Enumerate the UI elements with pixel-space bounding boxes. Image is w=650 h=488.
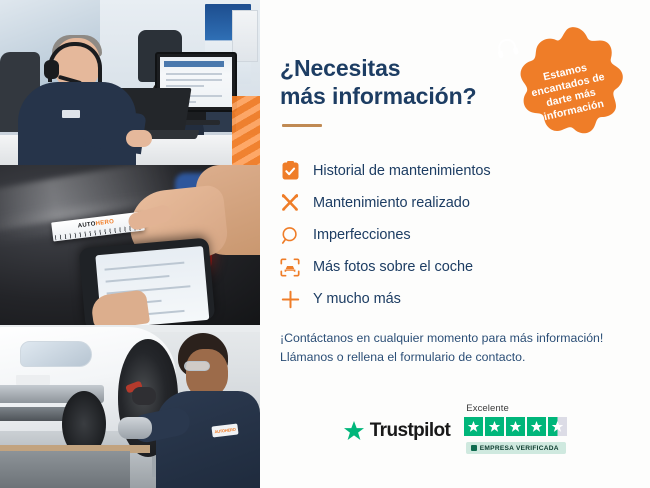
trustpilot-wordmark: Trustpilot bbox=[370, 420, 451, 442]
mechanic-person: AUTOHERO bbox=[156, 333, 260, 488]
clipboard-check-icon bbox=[280, 161, 300, 181]
trustpilot-star-icon bbox=[343, 421, 365, 442]
orange-stripe-decor bbox=[232, 96, 260, 165]
call-center-agents-photo bbox=[0, 0, 260, 165]
trustpilot-rating: Excelente bbox=[464, 403, 567, 454]
feature-item-mas: Y mucho más bbox=[280, 283, 624, 315]
contact-text: ¡Contáctanos en cualquier momento para m… bbox=[280, 329, 624, 367]
star-3 bbox=[506, 417, 525, 436]
feature-item-imperfecciones: Imperfecciones bbox=[280, 219, 624, 251]
verified-label: EMPRESA VERIFICADA bbox=[480, 445, 559, 452]
headline-line-2: más información? bbox=[280, 83, 477, 109]
photo-column: AUTOHERO bbox=[0, 0, 260, 488]
title-divider bbox=[282, 124, 322, 127]
feature-label: Y mucho más bbox=[313, 291, 401, 307]
plus-icon bbox=[280, 289, 300, 309]
agent-1 bbox=[18, 38, 136, 165]
star-rating bbox=[464, 417, 567, 436]
magnifier-icon bbox=[280, 225, 300, 245]
contact-line-2: Llámanos o rellena el formulario de cont… bbox=[280, 348, 624, 367]
ruler-brand-a: AUTO bbox=[77, 221, 96, 229]
star-4 bbox=[527, 417, 546, 436]
feature-label: Historial de mantenimientos bbox=[313, 163, 491, 179]
rating-label: Excelente bbox=[466, 403, 509, 414]
ruler-brand-b: HERO bbox=[95, 219, 114, 227]
headline-line-1: ¿Necesitas bbox=[280, 55, 400, 81]
feature-label: Imperfecciones bbox=[313, 227, 411, 243]
mechanic-wheel-inspection-photo: AUTOHERO bbox=[0, 325, 260, 488]
badge-text: Estamos encantados de darte más informac… bbox=[517, 56, 622, 127]
star-5-half bbox=[548, 417, 567, 436]
feature-item-mantenimiento: Mantenimiento realizado bbox=[280, 187, 624, 219]
feature-item-fotos: Más fotos sobre el coche bbox=[280, 251, 624, 283]
car-lift bbox=[0, 451, 130, 488]
info-badge: Estamos encantados de darte más informac… bbox=[507, 26, 631, 152]
trustpilot-logo: Trustpilot bbox=[343, 420, 451, 454]
verified-badge: EMPRESA VERIFICADA bbox=[466, 442, 566, 454]
page-title: ¿Necesitas más información? bbox=[280, 54, 510, 110]
contact-line-1: ¡Contáctanos en cualquier momento para m… bbox=[280, 329, 624, 348]
headset-icon bbox=[494, 37, 519, 59]
promo-card: AUTOHERO bbox=[0, 0, 650, 488]
car-scan-icon bbox=[280, 257, 300, 277]
star-2 bbox=[485, 417, 504, 436]
car-inspection-ruler-photo: AUTOHERO bbox=[0, 165, 260, 325]
feature-label: Más fotos sobre el coche bbox=[313, 259, 473, 275]
feature-list: Historial de mantenimientos Mantenimient… bbox=[280, 155, 624, 315]
trustpilot-block: Trustpilot Excelente bbox=[280, 403, 630, 454]
tools-cross-icon bbox=[280, 193, 300, 213]
check-icon bbox=[471, 445, 477, 451]
feature-item-historial: Historial de mantenimientos bbox=[280, 155, 624, 187]
feature-label: Mantenimiento realizado bbox=[313, 195, 470, 211]
star-1 bbox=[464, 417, 483, 436]
content-panel: ¿Necesitas más información? Estamos enca… bbox=[260, 0, 650, 488]
